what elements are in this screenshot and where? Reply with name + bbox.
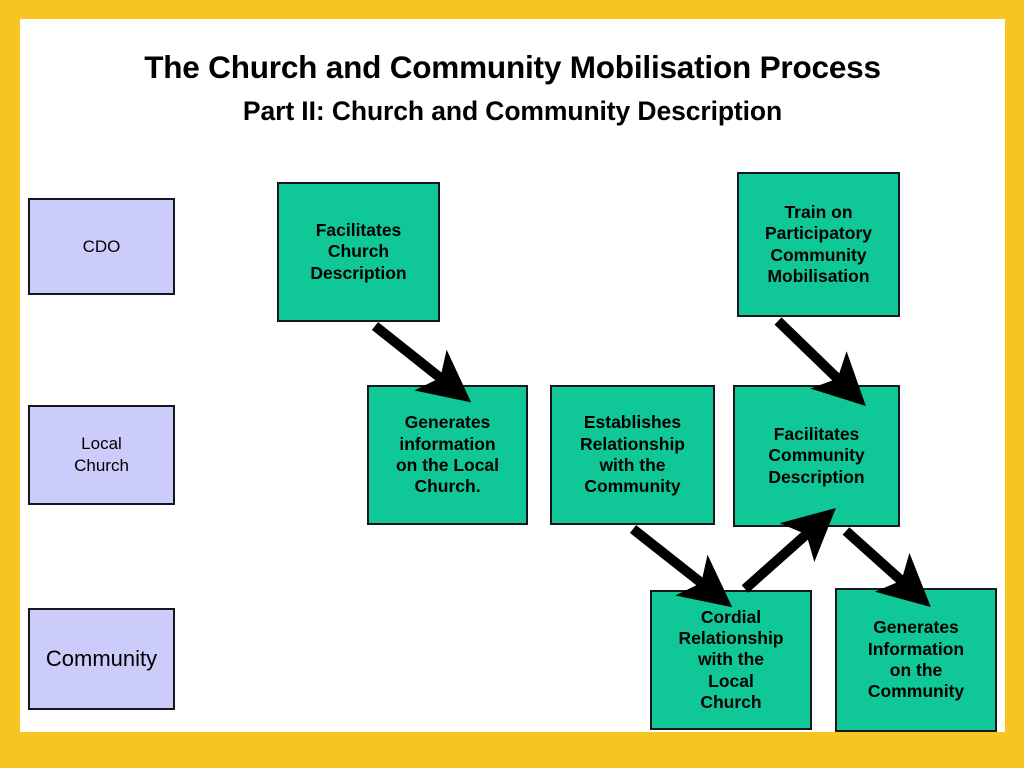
title-block: The Church and Community Mobilisation Pr… [20,19,1005,126]
node-facilitates-church-description[interactable]: Facilitates Church Description [277,182,440,322]
lane-label-text: CDO [83,236,121,258]
lane-label-text: Community [46,645,157,673]
node-establishes-relationship-community[interactable]: Establishes Relationship with the Commun… [550,385,715,525]
connector-train-to-facilitates-community [778,321,840,381]
node-generates-information-community[interactable]: Generates Information on the Community [835,588,997,732]
node-train-participatory-community-mobilisation[interactable]: Train on Participatory Community Mobilis… [737,172,900,317]
node-label: Facilitates Community Description [764,424,868,488]
node-label: Facilitates Church Description [306,220,410,284]
slide-canvas: The Church and Community Mobilisation Pr… [20,19,1005,732]
node-label: Train on Participatory Community Mobilis… [761,202,876,287]
lane-label-community[interactable]: Community [28,608,175,710]
page-subtitle: Part II: Church and Community Descriptio… [20,85,1005,126]
connector-facilitates-community-to-generates-info [846,531,904,583]
lane-label-text: Local Church [74,433,129,477]
node-cordial-relationship-local-church[interactable]: Cordial Relationship with the Local Chur… [650,590,812,730]
node-facilitates-community-description[interactable]: Facilitates Community Description [733,385,900,527]
slide-page: The Church and Community Mobilisation Pr… [0,0,1024,768]
connector-facilitates-church-to-generates-info [375,326,443,380]
lane-label-local-church[interactable]: Local Church [28,405,175,505]
node-label: Establishes Relationship with the Commun… [576,412,689,497]
node-label: Cordial Relationship with the Local Chur… [674,607,787,714]
node-label: Generates information on the Local Churc… [392,412,503,497]
connector-cordial-to-facilitates-community [745,532,809,589]
node-generates-information-local-church[interactable]: Generates information on the Local Churc… [367,385,528,525]
node-label: Generates Information on the Community [864,617,968,702]
connector-establishes-to-cordial [633,529,704,585]
page-title: The Church and Community Mobilisation Pr… [20,19,1005,85]
lane-label-cdo[interactable]: CDO [28,198,175,295]
